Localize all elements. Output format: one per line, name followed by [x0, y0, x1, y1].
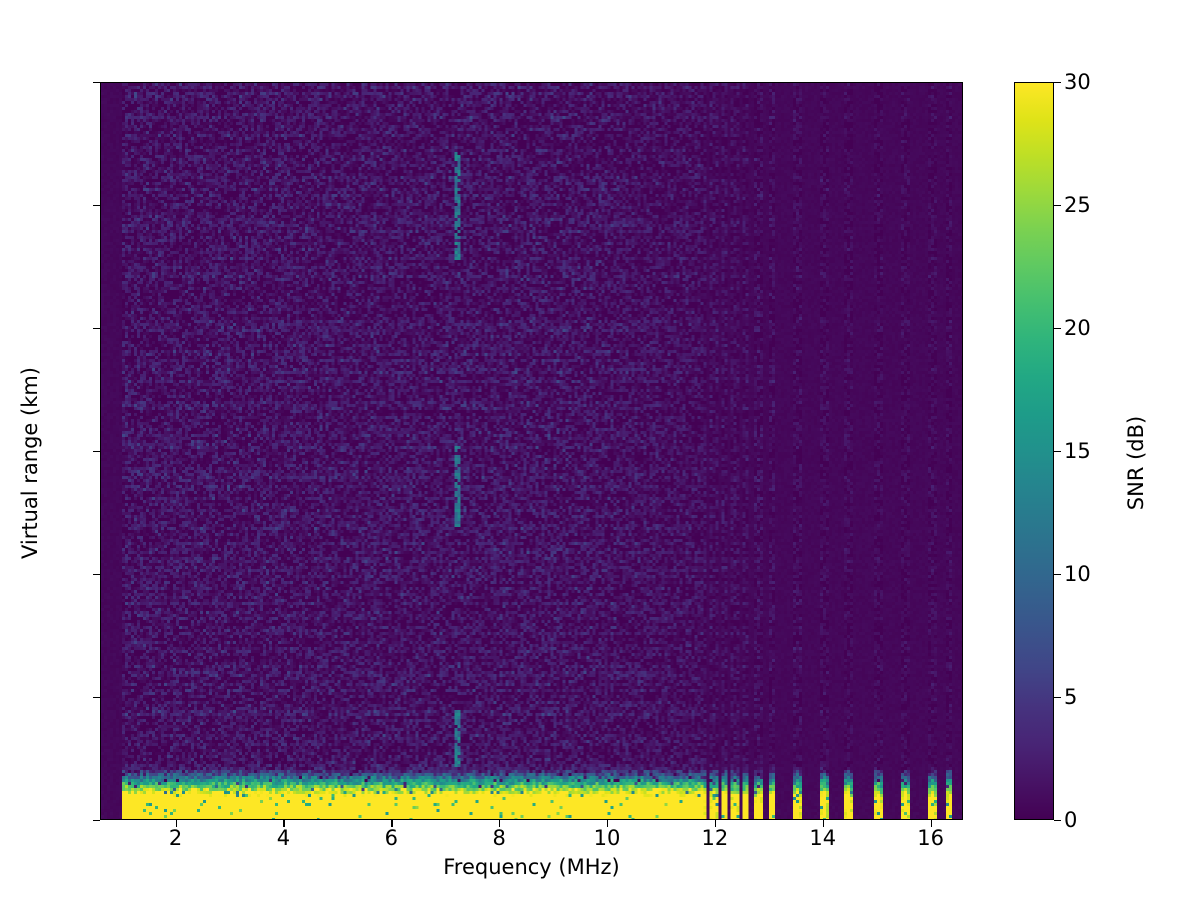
x-axis-tick-mark	[176, 820, 177, 827]
y-axis-tick-mark	[93, 82, 100, 83]
colorbar	[1014, 82, 1054, 820]
colorbar-tick-label: 5	[1064, 687, 1184, 708]
x-axis-tick-mark	[283, 820, 284, 827]
x-axis-tick-label: 8	[439, 828, 559, 849]
colorbar-gradient	[1015, 83, 1053, 819]
y-axis-tick-mark	[93, 205, 100, 206]
ionogram-heatmap	[101, 83, 963, 820]
y-axis-tick-mark	[93, 451, 100, 452]
y-axis-tick-mark	[93, 820, 100, 821]
x-axis-label: Frequency (MHz)	[100, 855, 963, 879]
colorbar-label: SNR (dB)	[1124, 343, 1148, 583]
colorbar-tick-label: 20	[1064, 318, 1184, 339]
y-axis-tick-mark	[93, 328, 100, 329]
x-axis-tick-label: 16	[871, 828, 991, 849]
colorbar-tick-mark	[1054, 820, 1061, 821]
x-axis-tick-label: 4	[223, 828, 343, 849]
colorbar-tick-mark	[1054, 451, 1061, 452]
x-axis-tick-label: 6	[331, 828, 451, 849]
colorbar-tick-mark	[1054, 328, 1061, 329]
x-axis-tick-label: 14	[763, 828, 883, 849]
x-axis-tick-label: 12	[655, 828, 775, 849]
y-axis-label: Virtual range (km)	[18, 343, 42, 583]
x-axis-tick-label: 2	[116, 828, 236, 849]
ionogram-figure: IRF Kiruna Ionosonde KI167 2026-04-12 13…	[0, 0, 1200, 900]
colorbar-tick-mark	[1054, 697, 1061, 698]
colorbar-tick-label: 25	[1064, 195, 1184, 216]
y-axis-tick-mark	[93, 574, 100, 575]
x-axis-tick-mark	[391, 820, 392, 827]
x-axis-tick-mark	[931, 820, 932, 827]
x-axis-tick-mark	[607, 820, 608, 827]
ionogram-plot-area	[100, 82, 963, 820]
colorbar-tick-mark	[1054, 574, 1061, 575]
x-axis-tick-mark	[499, 820, 500, 827]
x-axis-tick-label: 10	[547, 828, 667, 849]
colorbar-tick-label: 0	[1064, 810, 1184, 831]
colorbar-tick-label: 30	[1064, 72, 1184, 93]
x-axis-tick-mark	[715, 820, 716, 827]
colorbar-tick-mark	[1054, 205, 1061, 206]
x-axis-tick-mark	[823, 820, 824, 827]
y-axis-tick-mark	[93, 697, 100, 698]
colorbar-tick-mark	[1054, 82, 1061, 83]
